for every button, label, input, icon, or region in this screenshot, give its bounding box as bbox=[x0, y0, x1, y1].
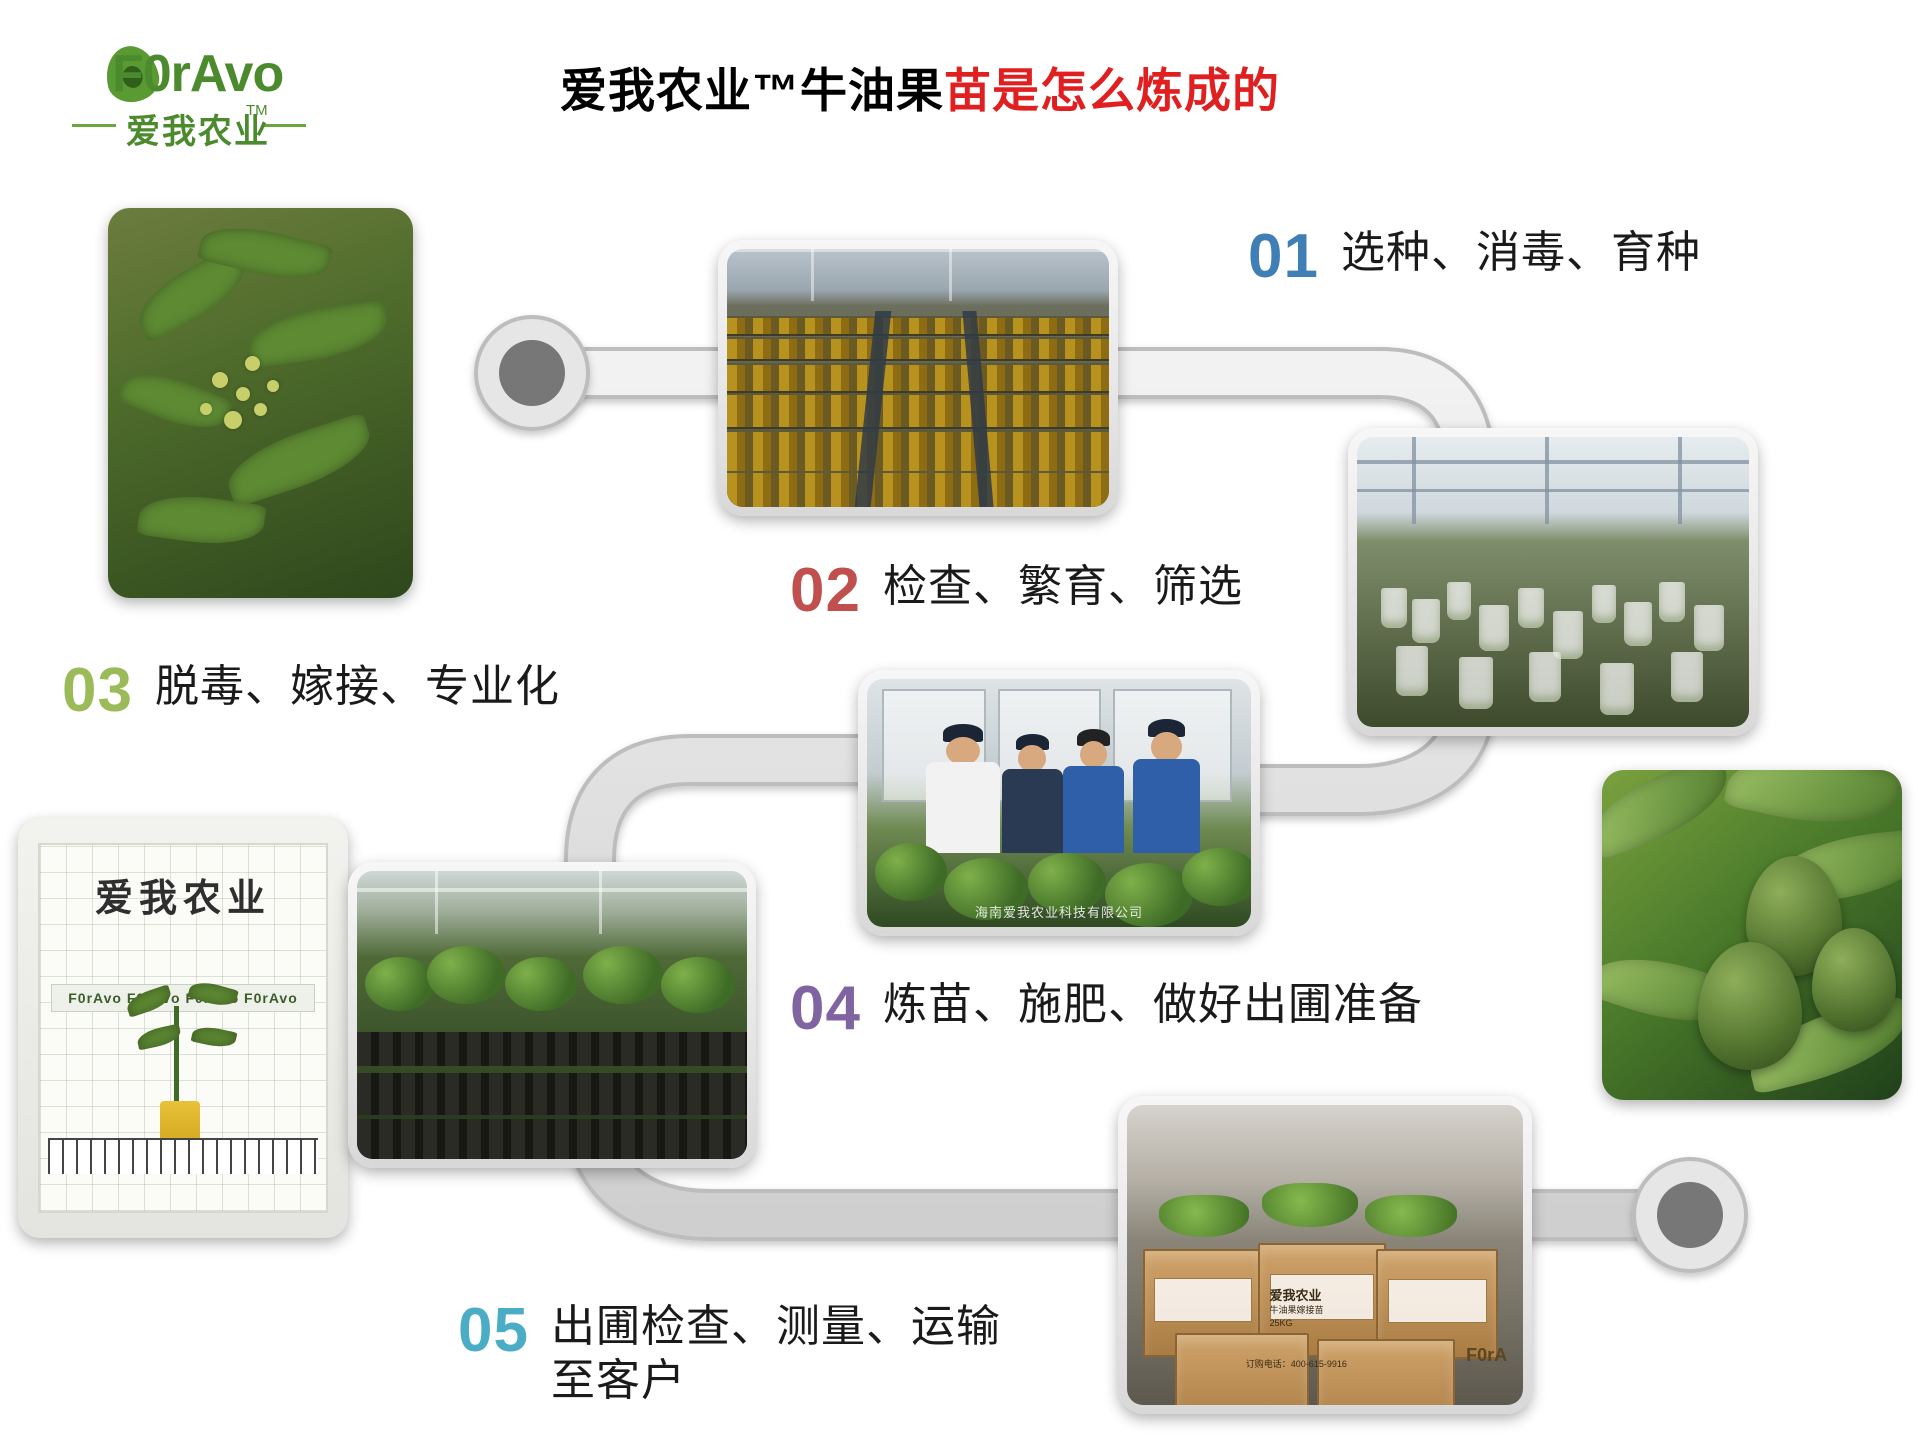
brand-tm-mark: TM bbox=[246, 102, 268, 119]
board-brand-text: 爱我农业 bbox=[40, 867, 326, 922]
carton-label-weight: 25KG bbox=[1270, 1318, 1293, 1328]
scene-packing-cartons: 爱我农业 牛油果嫁接苗 25KG 订购电话：400-615-9916 F0rA bbox=[1127, 1105, 1523, 1405]
step-05: 05 出圃检查、测量、运输 至客户 bbox=[458, 1300, 1001, 1407]
step-03: 03 脱毒、嫁接、专业化 bbox=[62, 660, 560, 722]
scene-flowering-branch bbox=[108, 208, 413, 598]
step-02-number: 02 bbox=[790, 560, 861, 622]
scene-seed-trays bbox=[727, 249, 1109, 507]
step-03-number: 03 bbox=[62, 660, 133, 722]
brand-wordmark: F0rAvo bbox=[112, 44, 283, 104]
photo-grafting-bags-greenhouse bbox=[1348, 428, 1758, 736]
photo-seed-trays-greenhouse bbox=[718, 240, 1118, 516]
step-04-number: 04 bbox=[790, 978, 861, 1040]
photo-seedling-measurement-board: 爱我农业 F0rAvo F0rAvo F0rAvo F0rAvo bbox=[18, 818, 348, 1238]
page-title-highlight: 苗是怎么炼成的 bbox=[944, 64, 1280, 117]
photo-staff-inspecting-seedlings: 海南爱我农业科技有限公司 bbox=[858, 670, 1260, 936]
photo-packing-cartons: 爱我农业 牛油果嫁接苗 25KG 订购电话：400-615-9916 F0rA bbox=[1118, 1096, 1532, 1414]
step-05-text-line2: 至客户 bbox=[551, 1354, 1001, 1408]
page-title: 爱我农业™牛油果苗是怎么炼成的 bbox=[560, 52, 1280, 121]
step-02-text: 检查、繁育、筛选 bbox=[883, 560, 1243, 614]
scene-staff-inspecting: 海南爱我农业科技有限公司 bbox=[867, 679, 1251, 927]
scene-potted-seedlings bbox=[357, 871, 747, 1159]
step-05-number: 05 bbox=[458, 1300, 529, 1362]
carton-label-phone: 订购电话：400-615-9916 bbox=[1246, 1357, 1347, 1370]
step-04: 04 炼苗、施肥、做好出圃准备 bbox=[790, 978, 1423, 1040]
flow-end-endpoint bbox=[1634, 1159, 1746, 1271]
flow-start-endpoint bbox=[476, 317, 588, 429]
step-03-text: 脱毒、嫁接、专业化 bbox=[155, 660, 560, 714]
brand-logo: F0rAvo 爱我农业 TM bbox=[50, 38, 320, 158]
step-01-number: 01 bbox=[1248, 226, 1319, 288]
photo-avocado-fruit-on-tree bbox=[1602, 770, 1902, 1100]
board-tape-text: F0rAvo F0rAvo F0rAvo F0rAvo bbox=[51, 984, 315, 1012]
photo-potted-seedlings-nursery bbox=[348, 862, 756, 1168]
step-02: 02 检查、繁育、筛选 bbox=[790, 560, 1243, 622]
step-01-text: 选种、消毒、育种 bbox=[1341, 226, 1701, 280]
step-05-text-line1: 出圃检查、测量、运输 bbox=[551, 1300, 1001, 1354]
carton-label-sub: 牛油果嫁接苗 bbox=[1270, 1303, 1324, 1316]
page-title-plain: 爱我农业™牛油果 bbox=[560, 64, 944, 117]
step-04-text: 炼苗、施肥、做好出圃准备 bbox=[883, 978, 1423, 1032]
step-01: 01 选种、消毒、育种 bbox=[1248, 226, 1701, 288]
scene-fruit-on-tree bbox=[1602, 770, 1902, 1100]
scene-measurement-board: 爱我农业 F0rAvo F0rAvo F0rAvo F0rAvo bbox=[18, 818, 348, 1238]
scene-grafting-bags bbox=[1357, 437, 1749, 727]
carton-label-cn: 爱我农业 bbox=[1270, 1285, 1322, 1304]
carton-side-text: F0rA bbox=[1466, 1345, 1507, 1366]
logo-divider-left bbox=[72, 124, 116, 127]
photo-flowering-avocado-branch bbox=[108, 208, 413, 598]
photo-watermark: 海南爱我农业科技有限公司 bbox=[867, 902, 1251, 921]
